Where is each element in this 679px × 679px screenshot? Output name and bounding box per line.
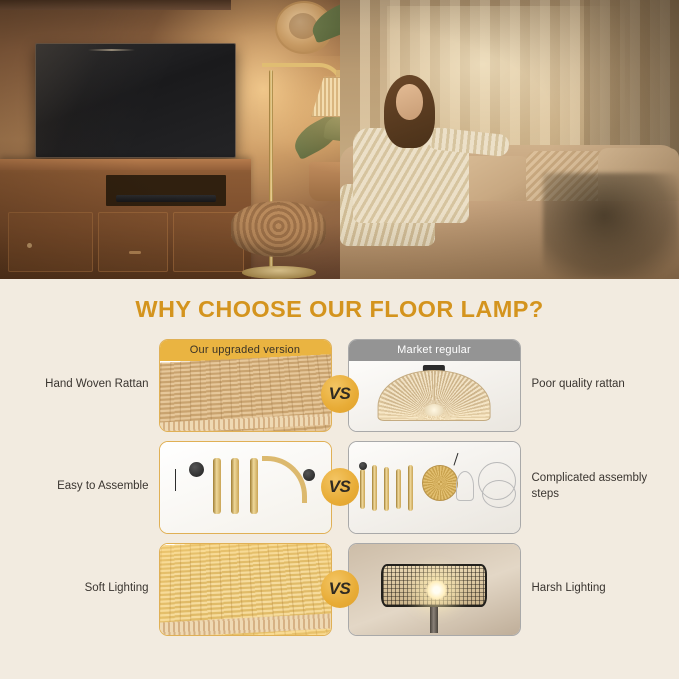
ours-card-lighting [159, 543, 332, 636]
cabinet-door-middle [98, 212, 168, 272]
power-cord [175, 469, 196, 491]
credenza-top [0, 159, 251, 170]
brass-base-disc [422, 465, 458, 501]
row-label-right: Harsh Lighting [521, 581, 676, 597]
ours-assembly-image [160, 442, 331, 533]
hero-photo [0, 0, 679, 279]
wooden-credenza [0, 159, 251, 279]
cabinet-knob [27, 243, 32, 248]
theirs-card-assembly [348, 441, 521, 534]
tv-screen-glint [88, 49, 136, 51]
woven-ottoman [231, 201, 326, 257]
small-fitting [359, 462, 367, 470]
pole-segment [213, 458, 221, 514]
comparison-row: Soft Lighting [0, 539, 679, 639]
vs-badge: VS [321, 375, 359, 413]
vs-badge: VS [321, 570, 359, 608]
comparison-section: WHY CHOOSE OUR FLOOR LAMP? Hand Woven Ra… [0, 279, 679, 679]
row-label-right: Complicated assembly steps [521, 471, 676, 502]
ours-card-rattan: Our upgraded version [159, 339, 332, 432]
row-label-left: Easy to Assemble [4, 479, 159, 495]
lamp-stem [430, 607, 439, 632]
small-rod [360, 469, 365, 509]
harsh-bare-bulb [424, 580, 450, 600]
lamp-base [242, 266, 317, 279]
small-rod [408, 465, 413, 511]
person-face [396, 84, 423, 120]
comparison-grid: Hand Woven Rattan Our upgraded version M… [0, 335, 679, 639]
foreground-plant-blur [543, 173, 679, 279]
row-label-left: Soft Lighting [4, 581, 159, 597]
infographic-page: WHY CHOOSE OUR FLOOR LAMP? Hand Woven Ra… [0, 0, 679, 679]
comparison-row: Easy to Assemble [0, 437, 679, 537]
theirs-assembly-image [349, 442, 520, 533]
theirs-lighting-image [349, 544, 520, 635]
sofa-area [340, 0, 679, 279]
comparison-row: Hand Woven Rattan Our upgraded version M… [0, 335, 679, 435]
pole-segment [231, 458, 239, 514]
theirs-card-lighting [348, 543, 521, 636]
ours-card-assembly [159, 441, 332, 534]
ours-lighting-image [160, 544, 331, 635]
exposed-bulb [425, 404, 444, 417]
ceiling-beam [0, 0, 231, 10]
shade-ring [482, 480, 516, 508]
vs-badge: VS [321, 468, 359, 506]
small-rod [396, 469, 401, 509]
hero-scene [0, 0, 679, 279]
television [35, 43, 235, 157]
ours-rattan-image [160, 361, 331, 431]
theirs-card-rattan: Market regular [348, 339, 521, 432]
small-rod [372, 465, 377, 511]
row-label-left: Hand Woven Rattan [4, 377, 159, 393]
page-title: WHY CHOOSE OUR FLOOR LAMP? [0, 296, 679, 323]
theirs-column-header: Market regular [349, 340, 520, 361]
theirs-rattan-image [349, 361, 520, 431]
cabinet-door-left [8, 212, 93, 272]
pole-segment [250, 458, 258, 514]
soundbar [116, 195, 216, 202]
small-rod [384, 467, 389, 511]
cabinet-handle [129, 251, 141, 254]
row-label-right: Poor quality rattan [521, 377, 676, 393]
wire-harp [456, 471, 474, 501]
socket-fitting [303, 469, 315, 481]
